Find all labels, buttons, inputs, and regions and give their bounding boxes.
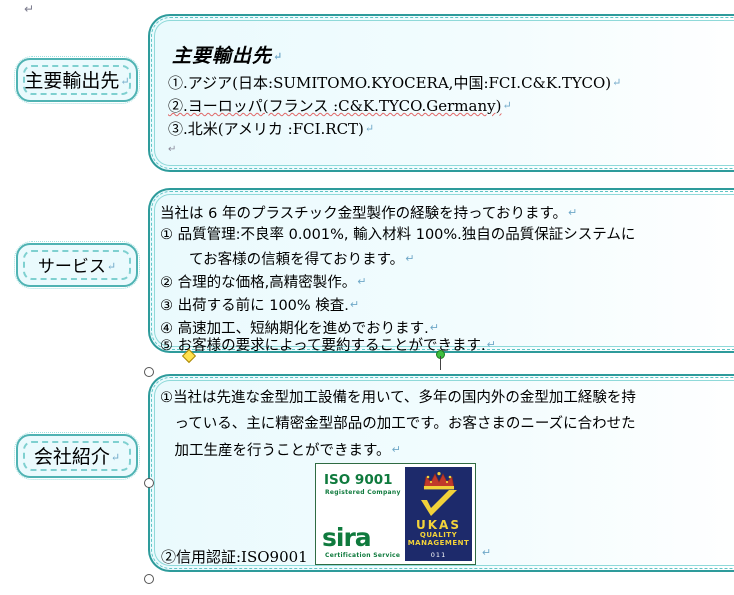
shape-corner-handle[interactable] [144,478,154,488]
stray-paragraph-mark: ↵ [24,2,34,16]
cert-ukas-line2: MANAGEMENT [405,539,472,547]
cert-ukas-panel: UKAS QUALITY MANAGEMENT 011 [405,467,472,561]
document-page: { "colors": { "panel_fill": "#eafafd", "… [0,0,734,595]
caption-box-service[interactable]: サービス↵ [16,243,138,287]
pilcrow-mark: ↵ [107,260,116,273]
cert-iso-title: ISO 9001 [324,472,393,488]
company-line-2: っている、主に精密金型部品の加工です。お客さまのニーズに合わせた [160,411,636,437]
service-line-2: ① 品質管理:不良率 0.001%, 輸入材料 100%.独自の品質保証システム… [160,223,635,248]
shape-corner-handle[interactable] [144,367,154,377]
pilcrow-mark: ↵ [111,451,120,464]
pilcrow-mark: ↵ [568,206,577,219]
caption-label-company-profile: 会社紹介↵ [18,442,136,469]
pilcrow-mark: ↵ [365,122,374,135]
export-line-2: ②.ヨーロッパ(フランス :C&K.TYCO.Germany)↵ [168,95,512,117]
pilcrow-mark: ↵ [392,443,401,456]
shape-corner-handle[interactable] [144,574,154,584]
caption-label-main-export-destinations: 主要輸出先↵ [18,66,136,93]
export-line-1: ①.アジア(日本:SUMITOMO.KYOCERA,中国:FCI.C&K.TYC… [168,72,621,94]
service-line-7: ⑤ お客様の要求によって要約することができます.↵ [160,332,496,359]
cert-sira-panel: ISO 9001 Registered Company sira Certifi… [316,464,405,564]
shape-rotate-stick[interactable] [440,356,441,370]
caption-box-company-profile[interactable]: 会社紹介↵ [16,434,138,478]
cert-brand-name: sira [322,525,371,550]
caption-label-service: サービス↵ [18,252,136,277]
export-heading: 主要輸出先↵ [172,41,283,68]
cert-brand-subtitle: Certification Service [325,552,400,559]
iso9001-ukas-certificate-image: ISO 9001 Registered Company sira Certifi… [315,463,476,565]
company-footer-line: ②信用認証:ISO9001 [161,546,308,567]
cert-ukas-line1: QUALITY [405,531,472,539]
pilcrow-mark: ↵ [120,75,129,88]
export-line-3: ③.北米(アメリカ :FCI.RCT)↵ [168,118,374,140]
company-line-3: 加工生産を行うことができます。↵ [160,437,401,464]
pilcrow-mark: ↵ [357,275,366,288]
pilcrow-mark: ↵ [405,252,414,265]
export-trailing-mark: ↵ [168,144,176,155]
pilcrow-mark: ↵ [502,99,511,112]
pilcrow-mark: ↵ [612,76,621,89]
cert-ukas-title: UKAS [405,518,472,532]
pilcrow-mark: ↵ [350,298,359,311]
cert-iso-subtitle: Registered Company [325,489,401,496]
company-line-1: ①当社は先進な金型加工設備を用いて、多年の国内外の金型加工経験を持 [160,385,636,411]
pilcrow-mark: ↵ [273,50,283,63]
pilcrow-mark: ↵ [487,338,496,351]
caption-box-main-export-destinations[interactable]: 主要輸出先↵ [16,58,138,102]
cert-pilcrow-mark: ↵ [482,546,491,559]
cert-ukas-number: 011 [405,551,472,559]
